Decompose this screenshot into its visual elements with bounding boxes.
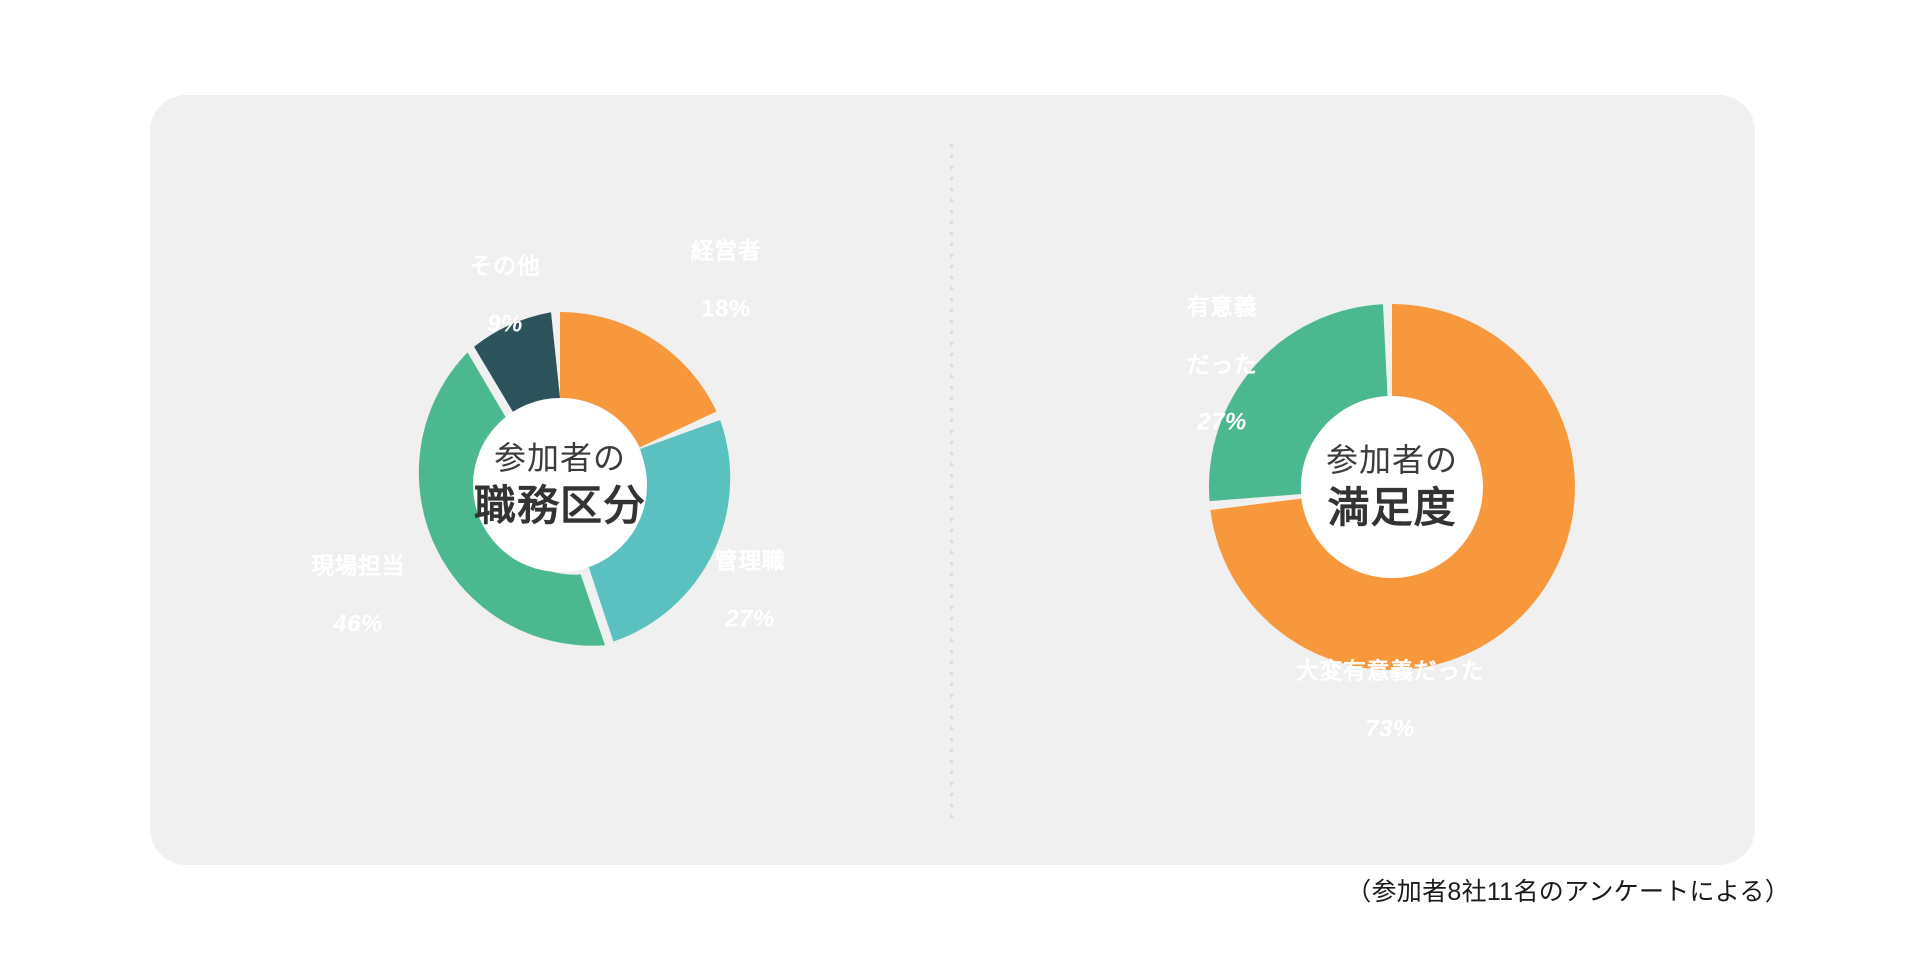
donut-center-hole	[473, 398, 647, 572]
vertical-dotted-divider	[949, 140, 954, 820]
donut-center-hole	[1301, 396, 1483, 578]
job-role-donut-svg	[370, 295, 750, 675]
screenshot-root: 参加者の 職務区分 経営者 18% 管理職 27% 現場担当 46% その他 9…	[0, 0, 1920, 960]
satisfaction-donut-svg	[1192, 287, 1592, 687]
job-role-donut-chart: 参加者の 職務区分	[370, 295, 750, 675]
satisfaction-donut-chart: 参加者の 満足度	[1192, 287, 1592, 687]
survey-footnote: （参加者8社11名のアンケートによる）	[1346, 872, 1790, 908]
